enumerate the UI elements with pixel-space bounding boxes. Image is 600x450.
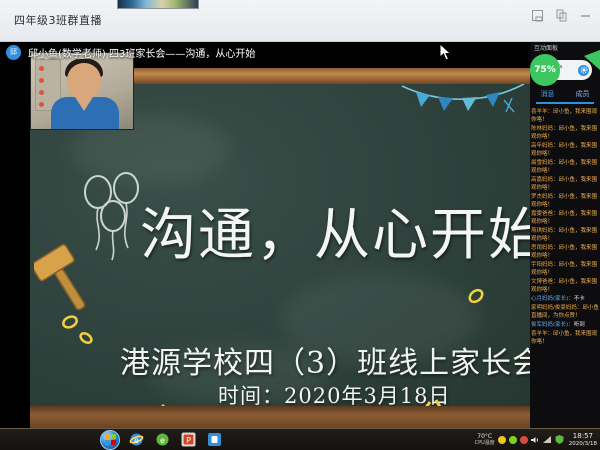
chat-message-author: 家明妈妈/俊豪妈妈： (531, 305, 582, 311)
cpu-temperature-gadget[interactable]: 70°C CPU温度 (475, 433, 495, 447)
chat-message-author: 文博爸爸： (531, 279, 559, 285)
cpu-temp-label: CPU温度 (475, 440, 495, 447)
chat-message: 喜羊羊：邱小鱼，我来围观你咯！ (531, 108, 599, 124)
chat-message: 家明妈妈/俊豪妈妈：邱小鱼直播间，为你点赞！ (531, 304, 599, 320)
chat-message-author: 陈林妈妈： (531, 126, 559, 132)
tray-icon-green[interactable] (509, 436, 517, 444)
bunting-flags-decoration (400, 82, 530, 124)
tray-icon-yellow[interactable] (498, 436, 506, 444)
svg-text:e: e (134, 436, 139, 445)
chat-message: 燕琪妈妈：邱小鱼，我来围观你咯！ (531, 227, 599, 243)
network-signal-icon[interactable] (543, 436, 552, 444)
gear-icon[interactable] (578, 65, 589, 76)
presenter-webcam[interactable] (30, 52, 134, 130)
tab-messages[interactable]: 消息 (530, 89, 565, 102)
presenter-avatar: 邱 (6, 45, 21, 60)
chat-message: 思雨妈妈：邱小鱼，我来围观你咯！ (531, 244, 599, 260)
restore-down-icon[interactable] (531, 9, 544, 22)
chat-message-author: 燕琪妈妈： (531, 228, 559, 234)
chat-message: 高年妈妈：邱小鱼，我来围观你咯！ (531, 142, 599, 158)
tab-members[interactable]: 成员 (565, 89, 600, 102)
window-controls (531, 9, 592, 22)
powerpoint-icon[interactable]: P (178, 431, 198, 449)
chat-message-author: 俊军妈妈(家长)： (531, 322, 574, 328)
window-title: 四年级3班群直播 (14, 12, 102, 28)
cpu-temp-value: 70°C (475, 433, 495, 440)
stream-header: 邱 邱小鱼(数学老师) 四3班家长会——沟通，从心开始 (0, 42, 600, 62)
chat-message: 喜羊羊：邱小鱼，我来围观你咯！ (531, 330, 599, 346)
stream-title: 邱小鱼(数学老师) 四3班家长会——沟通，从心开始 (28, 45, 255, 60)
stream-quality-badge: 75% (530, 54, 560, 86)
svg-text:e: e (160, 436, 165, 445)
chat-message-author: 思雨妈妈： (531, 245, 559, 251)
window-thumbnail-preview (117, 0, 199, 9)
system-tray[interactable]: 70°C CPU温度 18:57 2020/3/18 (475, 432, 600, 448)
presentation-title: 沟通，从心开始 (140, 190, 560, 271)
chat-message-author: 高嘉妈妈： (531, 177, 559, 183)
blackboard-frame-bottom (30, 406, 600, 428)
panel-title: 互动面板 (534, 43, 558, 52)
start-button[interactable] (100, 430, 120, 450)
tray-icon-red[interactable] (520, 436, 528, 444)
video-stage[interactable]: 沟通，从心开始 港源学校四（3）班线上家长会 时间：2020年3月18日 (0, 42, 600, 428)
video-letterbox-left (0, 42, 30, 428)
svg-text:P: P (186, 436, 191, 445)
clock-date: 2020/3/18 (569, 440, 597, 448)
chat-message: 高嘉妈妈：邱小鱼，我来围观你咯！ (531, 176, 599, 192)
chat-message: 陈林妈妈：邱小鱼，我来围观你咯！ (531, 125, 599, 141)
chat-message-author: 罗杰妈妈： (531, 194, 559, 200)
chat-message-author: 喜羊羊： (531, 109, 553, 115)
chat-message: 晨雪妈妈：邱小鱼，我来围观你咯！ (531, 159, 599, 175)
confetti-decoration (460, 280, 494, 314)
tab-active-underline (536, 102, 594, 104)
chat-message-author: 宇阳妈妈： (531, 262, 559, 268)
chat-message-body: 不卡 (574, 296, 585, 302)
volume-icon[interactable] (531, 436, 540, 444)
chat-message-author: 心月妈妈(家长)： (531, 296, 574, 302)
internet-explorer-icon[interactable]: e (126, 431, 146, 449)
mouse-cursor (440, 44, 452, 62)
clock[interactable]: 18:57 2020/3/18 (569, 432, 597, 448)
chat-message-author: 晨雪妈妈： (531, 160, 559, 166)
presentation-subtitle: 港源学校四（3）班线上家长会 (120, 338, 590, 382)
gavel-decoration (34, 240, 106, 318)
windows-taskbar[interactable]: e e P 70°C CPU温度 18:57 2020/3/18 (0, 428, 600, 450)
chat-message-list[interactable]: 喜羊羊：邱小鱼，我来围观你咯！陈林妈妈：邱小鱼，我来围观你咯！高年妈妈：邱小鱼，… (531, 108, 599, 408)
chat-message-author: 喜羊羊： (531, 331, 553, 337)
browser-icon[interactable]: e (152, 431, 172, 449)
security-shield-icon[interactable] (555, 435, 564, 444)
clock-time: 18:57 (569, 432, 597, 440)
chat-message-author: 高年妈妈： (531, 143, 559, 149)
chat-message: 心月妈妈(家长)：不卡 (531, 295, 599, 303)
window-title-bar: 四年级3班群直播 (0, 0, 600, 42)
confetti-decoration (60, 310, 100, 350)
chat-message: 文博爸爸：邱小鱼，我来围观你咯！ (531, 278, 599, 294)
chat-message: 罗杰妈妈：邱小鱼，我来围观你咯！ (531, 193, 599, 209)
minimize-icon[interactable] (579, 9, 592, 22)
live-app-icon[interactable] (204, 431, 224, 449)
chat-message: 俊军妈妈(家长)：听到 (531, 321, 599, 329)
interaction-panel[interactable]: 互动面板 ▲ ▼ 0.2K/s 0K/s 75% 消息 成员 喜羊羊：邱小鱼，我… (530, 42, 600, 428)
chat-message-body: 听到 (574, 322, 585, 328)
chat-message-author: 嘉雯爸爸： (531, 211, 559, 217)
chat-message: 嘉雯爸爸：邱小鱼，我来围观你咯！ (531, 210, 599, 226)
chat-message: 宇阳妈妈：邱小鱼，我来围观你咯！ (531, 261, 599, 277)
copy-icon[interactable] (555, 9, 568, 22)
